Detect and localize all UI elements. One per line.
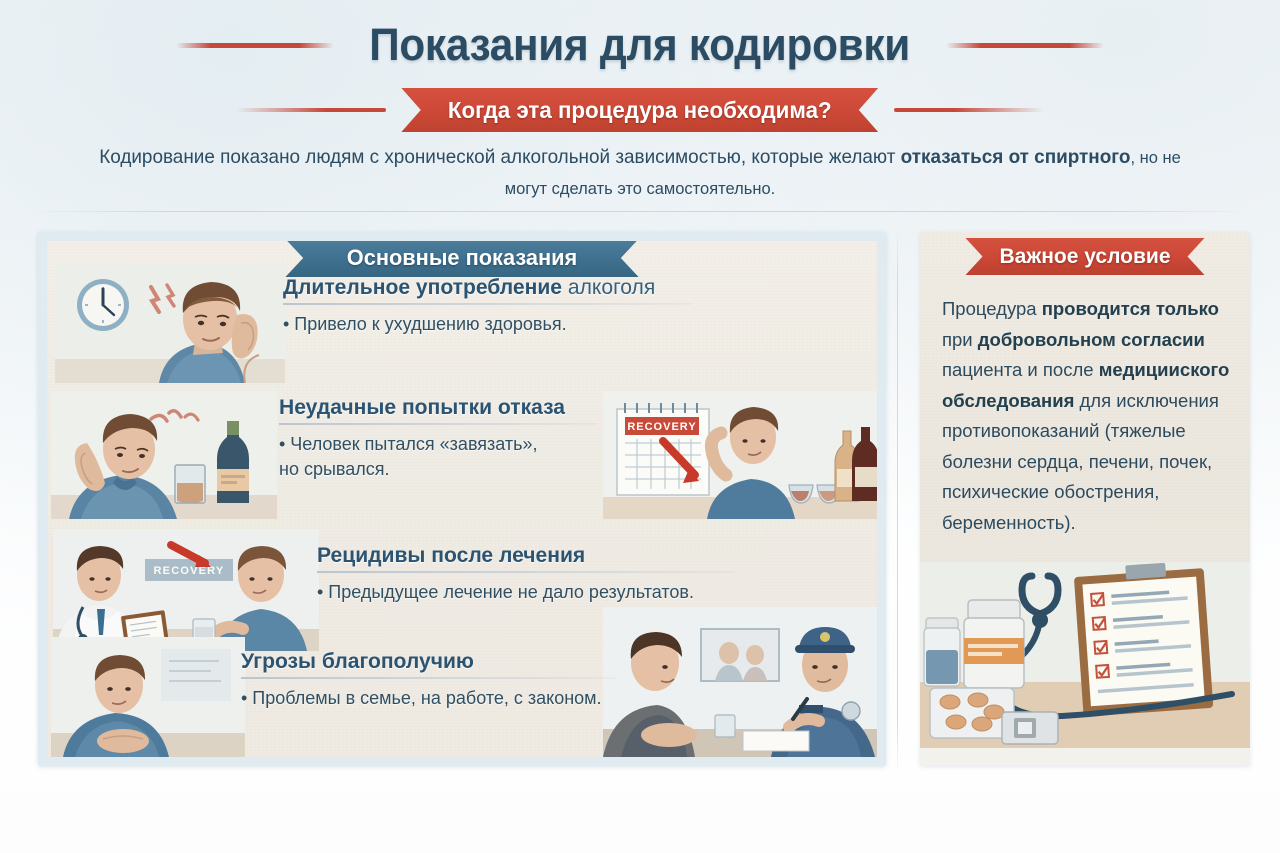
header-subtitle: Кодирование показано людям с хронической… — [77, 142, 1202, 204]
left-panel-inner: Длительное употребление алкоголя • Приве… — [47, 241, 877, 757]
indication-title-3: Рецидивы после лечения — [317, 543, 748, 568]
indication-row-2: Неудачные попытки отказа • Человек пытал… — [47, 391, 877, 519]
left-panel-banner: Основные показания — [285, 241, 638, 277]
condition-segment-2: при — [942, 329, 978, 350]
title-rule-right — [946, 43, 1104, 48]
indication-underline-4 — [241, 677, 615, 679]
police-interview-illustration — [603, 607, 877, 757]
recovery-calendar-bottles-illustration: RECOVERY — [603, 391, 877, 519]
question-ribbon: Когда эта процедура необходима? — [402, 88, 879, 132]
tired-man-clock-illustration — [55, 263, 285, 383]
indication-title-1-bold: Длительное употребление — [283, 275, 562, 299]
indication-title-2: Неудачные попытки отказа — [279, 395, 602, 420]
indication-bullet-3: • Предыдущее лечение не дало результатов… — [317, 580, 757, 605]
condition-segment-4: пациента и после — [942, 359, 1099, 380]
title-row: Показания для кодировки — [0, 14, 1280, 76]
indication-text-2: Неудачные попытки отказа • Человек пытал… — [279, 395, 609, 482]
right-panel: Важное условие Процедура проводится толь… — [920, 232, 1250, 766]
indication-text-4: Угрозы благополучию • Проблемы в семье, … — [241, 649, 641, 711]
indication-text-3: Рецидивы после лечения • Предыдущее лече… — [317, 543, 757, 605]
page-title: Показания для кодировки — [370, 19, 911, 71]
left-panel: Длительное употребление алкоголя • Приве… — [38, 232, 886, 766]
indication-title-4: Угрозы благополучию — [241, 649, 633, 674]
right-panel-banner: Важное условие — [966, 238, 1205, 275]
important-condition-text: Процедура проводится только при добровол… — [942, 294, 1234, 538]
indication-title-4-bold: Угрозы благополучию — [241, 649, 474, 673]
indication-title-1-regular: алкоголя — [562, 275, 655, 299]
worried-man-illustration — [51, 637, 245, 757]
indication-bullet-4: • Проблемы в семье, на работе, с законом… — [241, 686, 641, 711]
indication-row-1: Длительное употребление алкоголя • Приве… — [47, 263, 877, 383]
condition-segment-0: Процедура — [942, 298, 1042, 319]
title-rule-left — [176, 43, 334, 48]
header-divider — [28, 211, 1252, 212]
indication-underline-2 — [279, 423, 597, 425]
svg-text:RECOVERY: RECOVERY — [154, 565, 225, 577]
ribbon-row: Когда эта процедура необходима? — [0, 86, 1280, 134]
subtitle-part-1: Кодирование показано людям с хронической… — [99, 146, 900, 168]
ribbon-rule-right — [894, 108, 1044, 112]
subtitle-bold: отказаться от спиртного — [901, 146, 1131, 168]
medical-supplies-clipboard-illustration — [920, 562, 1250, 766]
infographic-page: Показания для кодировки Когда эта процед… — [0, 0, 1280, 853]
condition-segment-1: проводится только — [1042, 298, 1219, 319]
indication-title-3-bold: Рецидивы после лечения — [317, 543, 585, 567]
indication-text-1: Длительное употребление алкоголя • Приве… — [283, 275, 713, 337]
svg-text:RECOVERY: RECOVERY — [627, 421, 696, 433]
indication-bullet-2: • Человек пытался «завязать», но срывалс… — [279, 432, 609, 482]
drinking-man-illustration — [51, 391, 277, 519]
column-divider — [897, 226, 898, 774]
condition-segment-3: добровольном согласии — [978, 329, 1205, 350]
indication-underline-1 — [283, 303, 691, 305]
indication-row-4: Угрозы благополучию • Проблемы в семье, … — [47, 637, 877, 757]
ribbon-rule-left — [236, 108, 386, 112]
panels-area: Длительное употребление алкоголя • Приве… — [0, 218, 1280, 788]
indication-bullet-1: • Привело к ухудшению здоровья. — [283, 312, 713, 337]
indication-underline-3 — [317, 571, 735, 573]
header: Показания для кодировки Когда эта процед… — [0, 0, 1280, 212]
indication-title-2-bold: Неудачные попытки отказа — [279, 395, 565, 419]
doctor-patient-consultation-illustration: RECOVERY — [53, 529, 319, 651]
indication-title-1: Длительное употребление алкоголя — [283, 275, 704, 300]
